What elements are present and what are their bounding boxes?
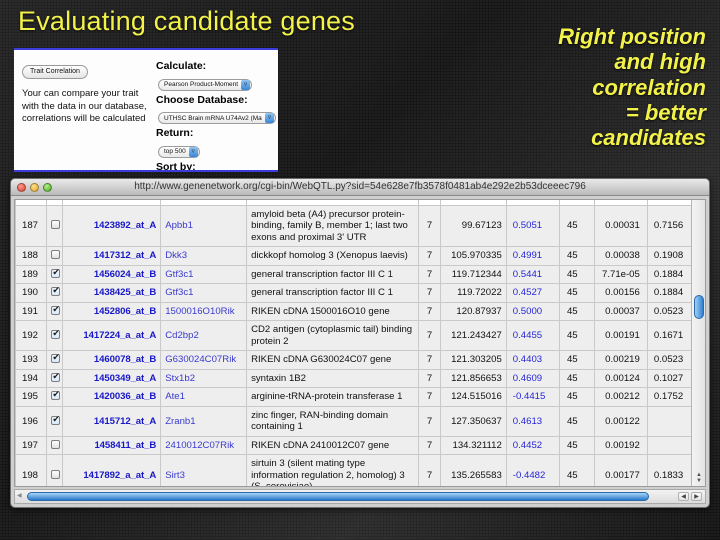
row-checkbox-icon[interactable] xyxy=(51,416,60,425)
probe-id[interactable]: 1420036_at_B xyxy=(63,388,161,407)
row-checkbox-icon[interactable] xyxy=(51,470,60,479)
row-checkbox[interactable] xyxy=(46,351,62,370)
lrs-value: 0.1671 xyxy=(647,321,696,351)
row-index: 187 xyxy=(16,205,47,247)
table-row: 1871423892_at_AApbb1amyloid beta (A4) pr… xyxy=(16,205,697,247)
page-content: 1871423892_at_AApbb1amyloid beta (A4) pr… xyxy=(14,199,706,487)
probe-id[interactable]: 1458411_at_B xyxy=(63,436,161,455)
scroll-left-arrow-icon[interactable]: ◀ xyxy=(17,492,22,499)
chevron-updown-icon: ▿ xyxy=(189,147,198,157)
megabase-position: 121.856653 xyxy=(441,369,506,388)
probe-id[interactable]: 1417224_a_at_A xyxy=(63,321,161,351)
correlation: -0.4415 xyxy=(506,388,559,407)
row-index: 191 xyxy=(16,302,47,321)
row-index: 197 xyxy=(16,436,47,455)
table-row: 1911452806_at_B1500016O10RikRIKEN cDNA 1… xyxy=(16,302,697,321)
probe-id[interactable]: 1417892_a_at_A xyxy=(63,455,161,488)
row-index: 193 xyxy=(16,351,47,370)
sample-count: 45 xyxy=(559,436,594,455)
correlation: 0.4613 xyxy=(506,406,559,436)
megabase-position: 105.970335 xyxy=(441,247,506,266)
row-checkbox-icon[interactable] xyxy=(51,391,60,400)
results-table-body: 1871423892_at_AApbb1amyloid beta (A4) pr… xyxy=(16,200,697,487)
results-table: 1871423892_at_AApbb1amyloid beta (A4) pr… xyxy=(15,200,697,487)
chevron-updown-icon: ▿ xyxy=(241,80,250,90)
gene-symbol[interactable]: G630024C07Rik xyxy=(161,351,247,370)
row-index: 196 xyxy=(16,406,47,436)
gene-description: dickkopf homolog 3 (Xenopus laevis) xyxy=(247,247,419,266)
choose-database-value: UTHSC Brain mRNA U74Av2 (May03) xyxy=(164,115,262,122)
gene-description: amyloid beta (A4) precursor protein-bind… xyxy=(247,205,419,247)
sample-count: 45 xyxy=(559,265,594,284)
megabase-position: 127.350637 xyxy=(441,406,506,436)
gene-description: arginine-tRNA-protein transferase 1 xyxy=(247,388,419,407)
table-row: 1961415712_at_AZranb1zinc finger, RAN-bi… xyxy=(16,406,697,436)
chromosome: 7 xyxy=(418,388,440,407)
correlation: 0.5441 xyxy=(506,265,559,284)
row-checkbox-icon[interactable] xyxy=(51,306,60,315)
lrs-value: 0.1884 xyxy=(647,284,696,303)
p-value: 0.00124 xyxy=(594,369,647,388)
chromosome: 7 xyxy=(418,351,440,370)
table-row: 1941450349_at_AStx1b2syntaxin 1B27121.85… xyxy=(16,369,697,388)
row-checkbox[interactable] xyxy=(46,388,62,407)
chromosome: 7 xyxy=(418,247,440,266)
gene-symbol[interactable]: Gtf3c1 xyxy=(161,265,247,284)
sample-count: 45 xyxy=(559,351,594,370)
gene-symbol[interactable]: Ate1 xyxy=(161,388,247,407)
row-checkbox[interactable] xyxy=(46,302,62,321)
horizontal-scrollbar[interactable]: ◀ ◀ ▶ xyxy=(14,489,706,504)
gene-description: RIKEN cDNA 2410012C07 gene xyxy=(247,436,419,455)
trait-panel-description: Your can compare your trait with the dat… xyxy=(22,88,150,126)
row-checkbox[interactable] xyxy=(46,265,62,284)
lrs-value: 0.0523 xyxy=(647,351,696,370)
callout-text: Right position and high correlation = be… xyxy=(482,24,706,150)
browser-window: http://www.genenetwork.org/cgi-bin/WebQT… xyxy=(10,178,710,508)
chevron-updown-icon: ▿ xyxy=(265,113,274,123)
megabase-position: 121.243427 xyxy=(441,321,506,351)
page-title: Evaluating candidate genes xyxy=(18,6,355,37)
p-value: 0.00122 xyxy=(594,406,647,436)
chromosome: 7 xyxy=(418,436,440,455)
table-row: 1951420036_at_BAte1arginine-tRNA-protein… xyxy=(16,388,697,407)
chromosome: 7 xyxy=(418,369,440,388)
row-index: 195 xyxy=(16,388,47,407)
probe-id[interactable]: 1438425_at_B xyxy=(63,284,161,303)
probe-id[interactable]: 1460078_at_B xyxy=(63,351,161,370)
row-checkbox-icon[interactable] xyxy=(51,220,60,229)
correlation: 0.4991 xyxy=(506,247,559,266)
trait-correlation-button[interactable]: Trait Correlation xyxy=(22,65,88,79)
sample-count: 45 xyxy=(559,205,594,247)
chromosome: 7 xyxy=(418,406,440,436)
sample-count: 45 xyxy=(559,321,594,351)
table-row: 1971458411_at_B2410012C07RikRIKEN cDNA 2… xyxy=(16,436,697,455)
row-checkbox[interactable] xyxy=(46,406,62,436)
table-row: 1891456024_at_BGtf3c1general transcripti… xyxy=(16,265,697,284)
lrs-value xyxy=(647,406,696,436)
table-row: 1901438425_at_BGtf3c1general transcripti… xyxy=(16,284,697,303)
sample-count: 45 xyxy=(559,455,594,488)
megabase-position: 119.712344 xyxy=(441,265,506,284)
row-checkbox-icon[interactable] xyxy=(51,354,60,363)
lrs-value: 0.1027 xyxy=(647,369,696,388)
horizontal-scroll-arrows[interactable]: ◀ ▶ xyxy=(678,492,702,501)
p-value: 0.00219 xyxy=(594,351,647,370)
lrs-value: 0.1752 xyxy=(647,388,696,407)
correlation: 0.4403 xyxy=(506,351,559,370)
calculate-select[interactable]: Pearson Product-Moment ▿ xyxy=(158,79,252,91)
table-row: 1931460078_at_BG630024C07RikRIKEN cDNA G… xyxy=(16,351,697,370)
gene-description: general transcription factor III C 1 xyxy=(247,284,419,303)
sample-count: 45 xyxy=(559,406,594,436)
callout-line: and high xyxy=(482,49,706,74)
row-checkbox-icon[interactable] xyxy=(51,330,60,339)
megabase-position: 121.303205 xyxy=(441,351,506,370)
table-row: 1881417312_at_ADkk3dickkopf homolog 3 (X… xyxy=(16,247,697,266)
row-index: 198 xyxy=(16,455,47,488)
gene-description: CD2 antigen (cytoplasmic tail) binding p… xyxy=(247,321,419,351)
chromosome: 7 xyxy=(418,284,440,303)
p-value: 0.00037 xyxy=(594,302,647,321)
calculate-label: Calculate: xyxy=(156,60,274,73)
row-checkbox-icon[interactable] xyxy=(51,373,60,382)
p-value: 0.00191 xyxy=(594,321,647,351)
lrs-value: 0.1833 xyxy=(647,455,696,488)
chromosome: 7 xyxy=(418,321,440,351)
probe-id[interactable]: 1417312_at_A xyxy=(63,247,161,266)
callout-line: correlation xyxy=(482,75,706,100)
correlation: 0.4527 xyxy=(506,284,559,303)
megabase-position: 119.72022 xyxy=(441,284,506,303)
row-checkbox[interactable] xyxy=(46,205,62,247)
trait-panel-controls: Calculate: Pearson Product-Moment ▿ Choo… xyxy=(156,58,274,172)
sample-count: 45 xyxy=(559,247,594,266)
correlation: 0.4609 xyxy=(506,369,559,388)
correlation: 0.4455 xyxy=(506,321,559,351)
calculate-value: Pearson Product-Moment xyxy=(164,81,238,88)
sort-by-label: Sort by: xyxy=(156,161,274,173)
table-row: 1981417892_a_at_ASirt3sirtuin 3 (silent … xyxy=(16,455,697,488)
scroll-right-icon[interactable]: ▶ xyxy=(691,492,702,501)
gene-symbol[interactable]: Apbb1 xyxy=(161,205,247,247)
vertical-scrollbar[interactable]: ▲▼ xyxy=(691,200,705,486)
sample-count: 45 xyxy=(559,284,594,303)
row-checkbox[interactable] xyxy=(46,436,62,455)
vertical-scroll-arrows[interactable]: ▲▼ xyxy=(694,472,704,484)
probe-id[interactable]: 1456024_at_B xyxy=(63,265,161,284)
gene-symbol[interactable]: Gtf3c1 xyxy=(161,284,247,303)
probe-id[interactable]: 1450349_at_A xyxy=(63,369,161,388)
megabase-position: 99.67123 xyxy=(441,205,506,247)
gene-symbol[interactable]: Zranb1 xyxy=(161,406,247,436)
choose-database-select[interactable]: UTHSC Brain mRNA U74Av2 (May03) ▿ xyxy=(158,112,276,124)
trait-correlation-panel: Trait Correlation Your can compare your … xyxy=(14,48,278,172)
correlation: -0.4482 xyxy=(506,455,559,488)
url-text: http://www.genenetwork.org/cgi-bin/WebQT… xyxy=(11,181,709,192)
gene-description: RIKEN cDNA 1500016O10 gene xyxy=(247,302,419,321)
row-index: 188 xyxy=(16,247,47,266)
vertical-scrollbar-thumb[interactable] xyxy=(694,295,704,319)
lrs-value: 0.1908 xyxy=(647,247,696,266)
gene-symbol[interactable]: Cd2bp2 xyxy=(161,321,247,351)
probe-id[interactable]: 1415712_at_A xyxy=(63,406,161,436)
correlation: 0.5051 xyxy=(506,205,559,247)
row-checkbox[interactable] xyxy=(46,284,62,303)
p-value: 0.00031 xyxy=(594,205,647,247)
p-value: 0.00192 xyxy=(594,436,647,455)
scroll-left-icon[interactable]: ◀ xyxy=(678,492,689,501)
p-value: 0.00177 xyxy=(594,455,647,488)
megabase-position: 124.515016 xyxy=(441,388,506,407)
callout-line: Right position xyxy=(482,24,706,49)
correlation: 0.4452 xyxy=(506,436,559,455)
horizontal-scrollbar-thumb[interactable] xyxy=(27,492,649,501)
gene-description: sirtuin 3 (silent mating type informatio… xyxy=(247,455,419,488)
row-checkbox[interactable] xyxy=(46,369,62,388)
gene-description: syntaxin 1B2 xyxy=(247,369,419,388)
browser-titlebar[interactable]: http://www.genenetwork.org/cgi-bin/WebQT… xyxy=(11,179,709,196)
callout-line: = better xyxy=(482,100,706,125)
chromosome: 7 xyxy=(418,265,440,284)
gene-symbol[interactable]: 1500016O10Rik xyxy=(161,302,247,321)
choose-database-label: Choose Database: xyxy=(156,94,274,107)
row-checkbox-icon[interactable] xyxy=(51,440,60,449)
callout-line: candidates xyxy=(482,125,706,150)
sample-count: 45 xyxy=(559,369,594,388)
row-index: 190 xyxy=(16,284,47,303)
megabase-position: 134.321112 xyxy=(441,436,506,455)
row-checkbox[interactable] xyxy=(46,321,62,351)
row-index: 192 xyxy=(16,321,47,351)
gene-description: zinc finger, RAN-binding domain containi… xyxy=(247,406,419,436)
lrs-value: 0.7156 xyxy=(647,205,696,247)
lrs-value: 0.0523 xyxy=(647,302,696,321)
return-value: top 500 xyxy=(164,148,186,155)
probe-id[interactable]: 1423892_at_A xyxy=(63,205,161,247)
return-select[interactable]: top 500 ▿ xyxy=(158,146,200,158)
megabase-position: 135.265583 xyxy=(441,455,506,488)
table-row: 1921417224_a_at_ACd2bp2CD2 antigen (cyto… xyxy=(16,321,697,351)
gene-description: general transcription factor III C 1 xyxy=(247,265,419,284)
megabase-position: 120.87937 xyxy=(441,302,506,321)
chromosome: 7 xyxy=(418,302,440,321)
correlation: 0.5000 xyxy=(506,302,559,321)
gene-symbol[interactable]: Dkk3 xyxy=(161,247,247,266)
row-checkbox[interactable] xyxy=(46,247,62,266)
row-index: 189 xyxy=(16,265,47,284)
row-checkbox-icon[interactable] xyxy=(51,250,60,259)
gene-symbol[interactable]: Stx1b2 xyxy=(161,369,247,388)
p-value: 0.00038 xyxy=(594,247,647,266)
gene-symbol[interactable]: 2410012C07Rik xyxy=(161,436,247,455)
gene-description: RIKEN cDNA G630024C07 gene xyxy=(247,351,419,370)
probe-id[interactable]: 1452806_at_B xyxy=(63,302,161,321)
row-index: 194 xyxy=(16,369,47,388)
sample-count: 45 xyxy=(559,302,594,321)
p-value: 7.71e-05 xyxy=(594,265,647,284)
row-checkbox-icon[interactable] xyxy=(51,269,60,278)
gene-symbol[interactable]: Sirt3 xyxy=(161,455,247,488)
p-value: 0.00212 xyxy=(594,388,647,407)
p-value: 0.00156 xyxy=(594,284,647,303)
row-checkbox[interactable] xyxy=(46,455,62,488)
return-label: Return: xyxy=(156,127,274,140)
trait-panel-left: Trait Correlation Your can compare your … xyxy=(22,60,150,126)
row-checkbox-icon[interactable] xyxy=(51,287,60,296)
lrs-value xyxy=(647,436,696,455)
lrs-value: 0.1884 xyxy=(647,265,696,284)
sample-count: 45 xyxy=(559,388,594,407)
chromosome: 7 xyxy=(418,205,440,247)
chromosome: 7 xyxy=(418,455,440,488)
